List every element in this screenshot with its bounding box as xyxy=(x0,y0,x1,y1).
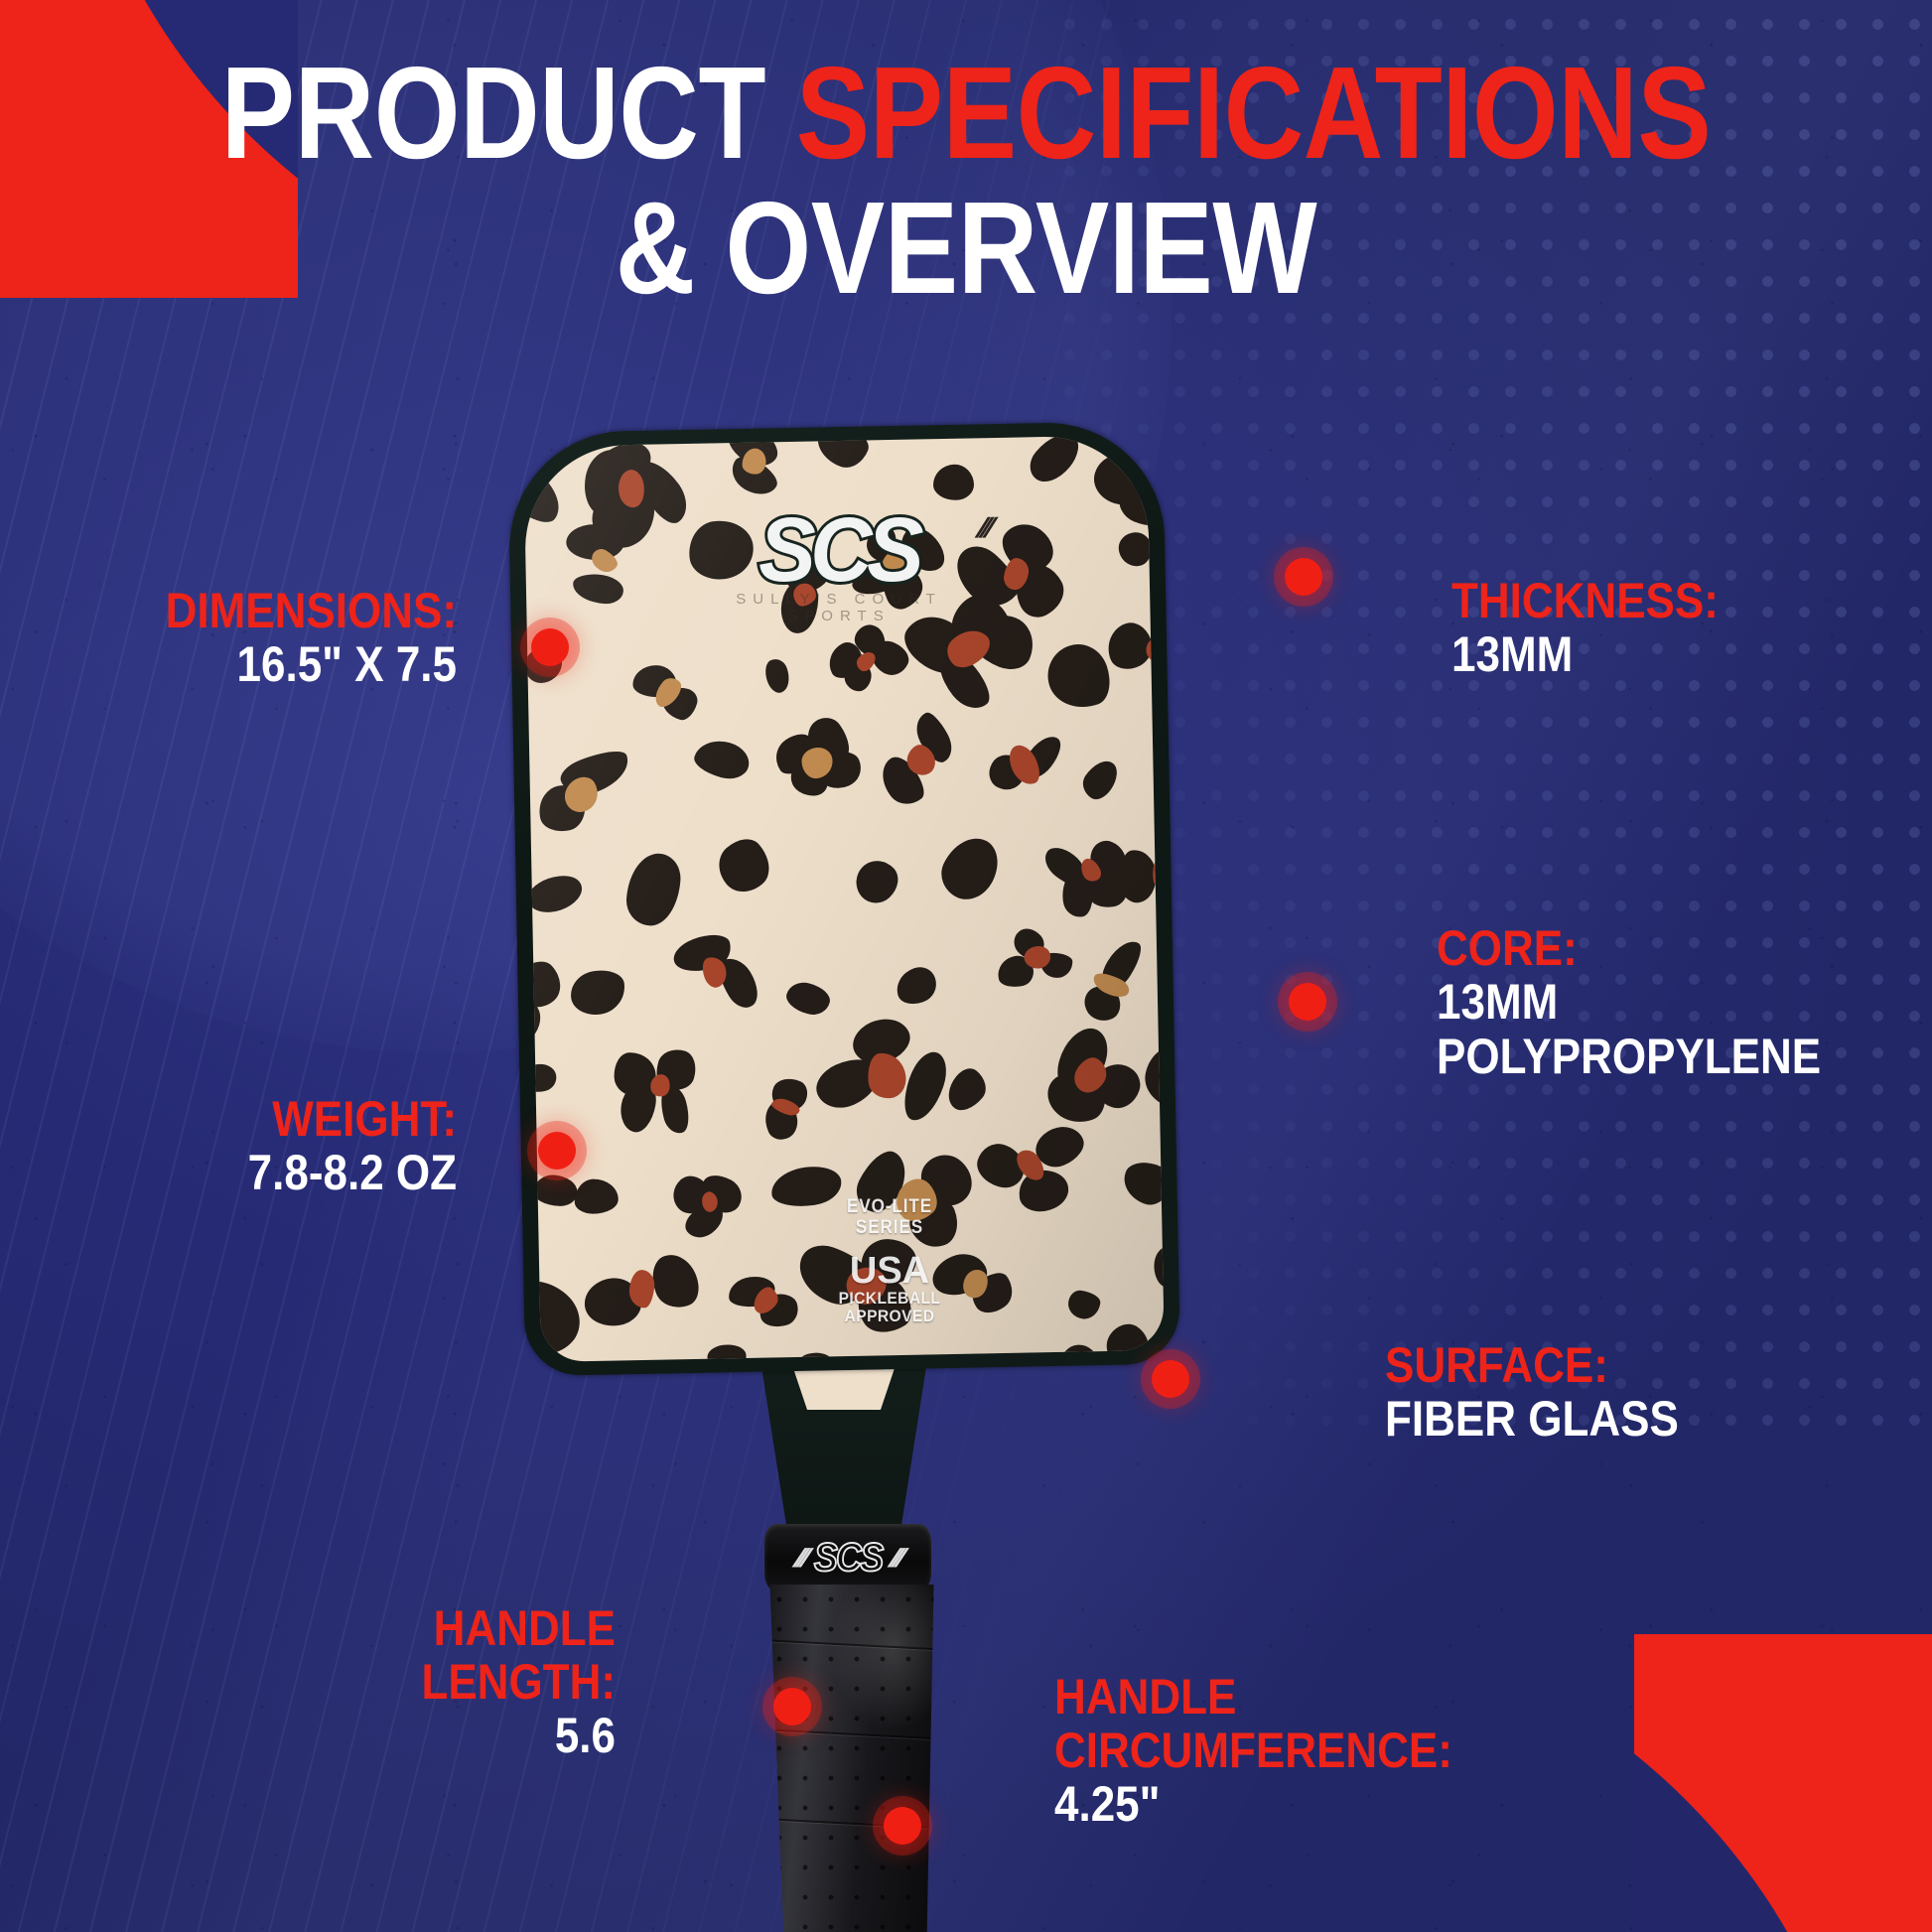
leopard-spot xyxy=(932,465,974,501)
paddle-handle-collar: /// SCS /// xyxy=(764,1524,931,1591)
leopard-spot xyxy=(572,573,624,605)
leopard-spot xyxy=(897,1046,952,1125)
paddle-certification-badge: EVO-LITE SERIES USA PICKLEBALL APPROVED xyxy=(810,1197,969,1326)
spec-core: CORE: 13MM POLYPROPYLENE xyxy=(1437,921,1932,1084)
leopard-spot xyxy=(625,851,682,926)
connector-dot-dimensions xyxy=(531,628,569,666)
leopard-spot xyxy=(1023,435,1086,490)
spec-handle-length: HANDLE LENGTH: 5.6 xyxy=(218,1601,616,1763)
paddle-series-line-2: SERIES xyxy=(818,1218,961,1239)
leopard-spot xyxy=(848,852,907,910)
leopard-spot xyxy=(1118,1157,1165,1209)
page-title-line-1: PRODUCT SPECIFICATIONS xyxy=(150,46,1782,181)
spec-core-label: CORE: xyxy=(1437,921,1873,975)
spec-handle-circumference-label: HANDLE CIRCUMFERENCE: xyxy=(1054,1670,1544,1777)
connector-dot-handle-length xyxy=(773,1688,811,1725)
spec-weight-value: 7.8-8.2 OZ xyxy=(107,1146,457,1200)
leopard-spot xyxy=(575,1179,619,1214)
leopard-spot xyxy=(1119,532,1153,567)
leopard-spot xyxy=(761,656,794,696)
leopard-spot xyxy=(866,1050,908,1099)
spec-handle-length-value: 5.6 xyxy=(266,1709,616,1763)
spec-surface: SURFACE: FIBER GLASS xyxy=(1385,1338,1852,1447)
spec-surface-value: FIBER GLASS xyxy=(1385,1392,1796,1447)
connector-dot-thickness xyxy=(1285,558,1322,596)
title-word-product: PRODUCT xyxy=(221,40,796,186)
certification-org-label: USA xyxy=(810,1252,969,1290)
spec-thickness: THICKNESS: 13MM xyxy=(1451,574,1908,682)
leopard-spot xyxy=(523,870,587,919)
spec-thickness-label: THICKNESS: xyxy=(1451,574,1854,627)
leopard-spot xyxy=(1039,636,1118,717)
leopard-spot xyxy=(1077,755,1124,804)
leopard-spot xyxy=(892,963,941,1009)
connector-dot-handle-circumference xyxy=(884,1807,921,1845)
spec-handle-circumference: HANDLE CIRCUMFERENCE: 4.25" xyxy=(1054,1670,1610,1832)
leopard-spot xyxy=(691,735,754,784)
connector-dot-weight xyxy=(538,1132,576,1170)
spec-weight-label: WEIGHT: xyxy=(107,1092,457,1146)
leopard-spot xyxy=(533,1174,578,1206)
paddle-face-assembly: SCS /// SULLY'S COURT SPORTS EVO-LITE SE… xyxy=(516,427,1172,1370)
page-title-line-2: & OVERVIEW xyxy=(150,181,1782,316)
paddle-grip xyxy=(766,1585,937,1932)
leopard-spot xyxy=(933,829,1008,908)
certification-line-1: PICKLEBALL xyxy=(816,1290,962,1308)
certification-line-2: APPROVED xyxy=(816,1308,962,1325)
connector-dot-core xyxy=(1289,983,1326,1021)
spec-dimensions-label: DIMENSIONS: xyxy=(107,584,457,637)
paddle-brand-logo: SCS /// SULLY'S COURT SPORTS xyxy=(695,498,983,624)
grip-perforations xyxy=(766,1585,937,1932)
collar-brand-mark: SCS xyxy=(814,1536,883,1581)
collar-slashes-right-icon: /// xyxy=(887,1543,905,1574)
leopard-spot xyxy=(568,967,627,1018)
corner-accent-bottom-right-icon xyxy=(1634,1634,1932,1932)
leopard-spot xyxy=(1066,1289,1102,1320)
leopard-spot xyxy=(810,435,873,474)
spec-handle-length-label: HANDLE LENGTH: xyxy=(266,1601,616,1709)
spec-weight: WEIGHT: 7.8-8.2 OZ xyxy=(60,1092,457,1200)
paddle-series-line-1: EVO-LITE xyxy=(818,1197,961,1218)
infographic-canvas: PRODUCT SPECIFICATIONS & OVERVIEW SCS //… xyxy=(0,0,1932,1932)
spec-dimensions-value: 16.5" X 7.5 xyxy=(107,637,457,692)
leopard-spot xyxy=(783,979,833,1020)
title-word-specifications: SPECIFICATIONS xyxy=(796,40,1712,186)
page-title: PRODUCT SPECIFICATIONS & OVERVIEW xyxy=(0,46,1932,316)
paddle-brand-mark: SCS xyxy=(759,498,919,603)
leopard-spot xyxy=(940,1063,993,1117)
collar-slashes-left-icon: /// xyxy=(791,1543,810,1574)
leopard-spot xyxy=(1151,1245,1164,1291)
spec-core-value: 13MM POLYPROPYLENE xyxy=(1437,975,1873,1084)
spec-thickness-value: 13MM xyxy=(1451,627,1854,682)
spec-dimensions: DIMENSIONS: 16.5" X 7.5 xyxy=(60,584,457,692)
leopard-spot xyxy=(709,830,780,901)
spec-handle-circumference-value: 4.25" xyxy=(1054,1777,1544,1832)
connector-dot-surface xyxy=(1152,1360,1189,1398)
spec-surface-label: SURFACE: xyxy=(1385,1338,1796,1392)
